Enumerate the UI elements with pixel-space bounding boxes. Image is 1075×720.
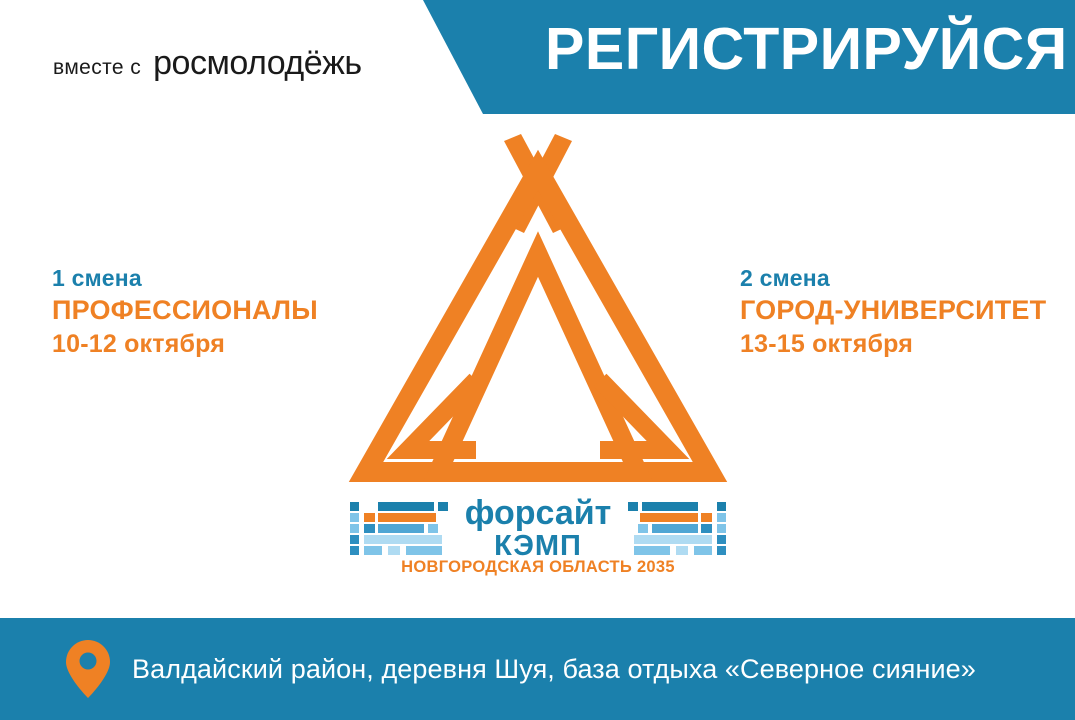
partner-brand-rosmolodezh: росмолодёжь: [153, 44, 361, 83]
shift-1-number: 1 смена: [52, 264, 318, 293]
logo-region-label: НОВГОРОДСКАЯ ОБЛАСТЬ 2035: [338, 558, 738, 577]
camp-logo: форсайт КЭМП НОВГОРОДСКАЯ ОБЛАСТЬ 2035: [338, 132, 738, 592]
location-bar: Валдайский район, деревня Шуя, база отды…: [0, 618, 1075, 720]
logo-wordmark-line1: форсайт: [465, 498, 612, 532]
shift-1-dates: 10-12 октября: [52, 328, 318, 361]
partner-lockup: вместе с росмолодёжь: [53, 44, 362, 83]
pixel-decoration-left: [350, 502, 448, 555]
shift-1-name: ПРОФЕССИОНАЛЫ: [52, 293, 318, 329]
shift-block-1: 1 смена ПРОФЕССИОНАЛЫ 10-12 октября: [52, 264, 318, 361]
register-title: РЕГИСТРИРУЙСЯ: [545, 20, 1065, 79]
shift-2-dates: 13-15 октября: [740, 328, 1046, 361]
shift-2-name: ГОРОД-УНИВЕРСИТЕТ: [740, 293, 1046, 329]
location-pin-icon: [66, 640, 110, 698]
tent-icon: [338, 132, 738, 512]
logo-wordmark: форсайт КЭМП: [338, 498, 738, 560]
location-text: Валдайский район, деревня Шуя, база отды…: [132, 654, 976, 685]
shift-2-number: 2 смена: [740, 264, 1046, 293]
partner-prefix: вместе с: [53, 56, 141, 80]
logo-wordmark-line2: КЭМП: [494, 530, 582, 560]
pixel-decoration-right: [628, 502, 726, 555]
shift-block-2: 2 смена ГОРОД-УНИВЕРСИТЕТ 13-15 октября: [740, 264, 1046, 361]
poster-canvas: РЕГИСТРИРУЙСЯ вместе с росмолодёжь 1 сме…: [0, 0, 1075, 720]
